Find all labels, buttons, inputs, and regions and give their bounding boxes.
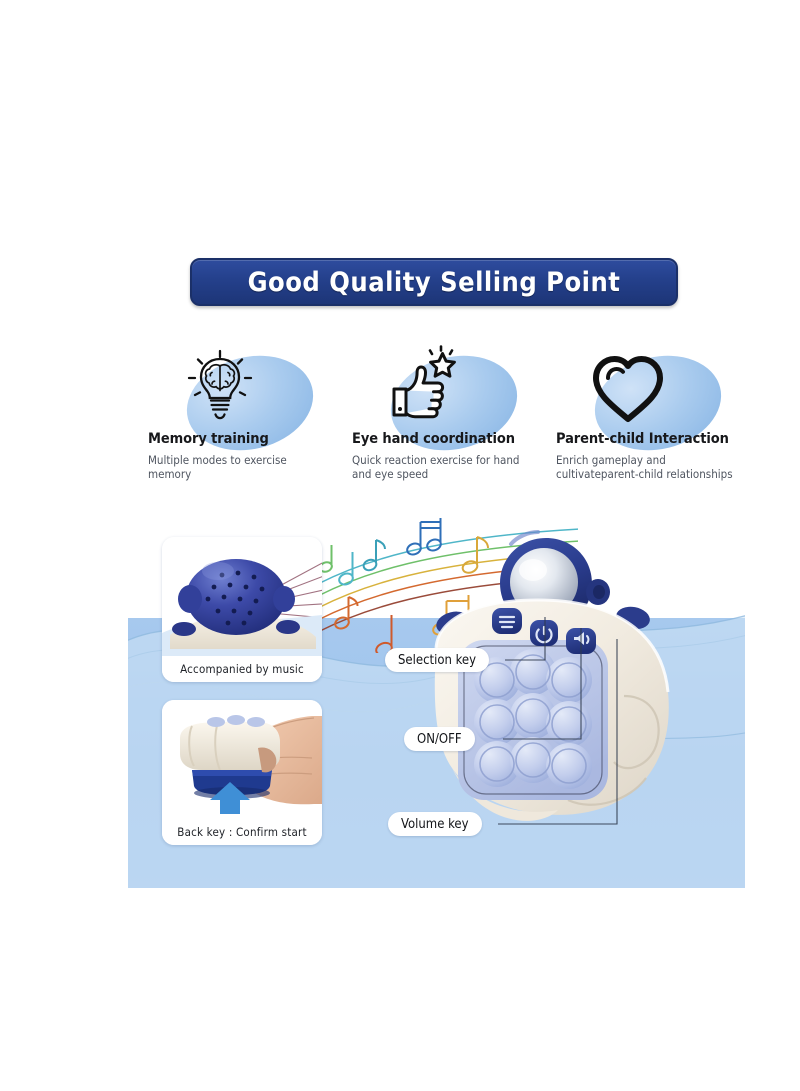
feature-title: Parent-child Interaction xyxy=(556,431,760,447)
volume-key-callout[interactable]: Volume key xyxy=(388,812,482,836)
volume-button xyxy=(566,628,596,654)
page-title: Good Quality Selling Point xyxy=(248,267,621,298)
feature-list: Memory training Multiple modes to exerci… xyxy=(148,345,760,495)
menu-button xyxy=(492,608,522,634)
title-banner: Good Quality Selling Point xyxy=(190,258,678,306)
feature-description: Multiple modes to exercise memory xyxy=(148,453,330,481)
feature-eye-hand-coordination: Eye hand coordination Quick reaction exe… xyxy=(352,345,556,495)
onoff-callout[interactable]: ON/OFF xyxy=(404,727,475,751)
feature-title: Memory training xyxy=(148,431,352,447)
feature-description: Quick reaction exercise for hand and eye… xyxy=(352,453,534,481)
feature-parent-child-interaction: Parent-child Interaction Enrich gameplay… xyxy=(556,345,760,495)
feature-title: Eye hand coordination xyxy=(352,431,556,447)
speaker-dome-photo xyxy=(162,537,322,657)
inset-caption: Back key : Confirm start xyxy=(162,819,322,845)
title-banner-bg: Good Quality Selling Point xyxy=(190,258,678,306)
feature-description: Enrich gameplay and cultivateparent-chil… xyxy=(556,453,738,481)
power-button xyxy=(530,620,558,646)
thumbs-up-star-icon xyxy=(382,345,466,431)
music-inset: Accompanied by music xyxy=(162,537,322,682)
back-key-inset: Back key : Confirm start xyxy=(162,700,322,845)
heart-icon xyxy=(586,345,670,431)
inset-caption: Accompanied by music xyxy=(162,656,322,682)
product-infographic: Good Quality Selling Point xyxy=(0,0,800,1091)
selection-key-callout[interactable]: Selection key xyxy=(385,648,489,672)
feature-memory-training: Memory training Multiple modes to exerci… xyxy=(148,345,352,495)
lightbulb-brain-icon xyxy=(178,345,262,431)
hand-holding-device-photo xyxy=(162,700,322,820)
